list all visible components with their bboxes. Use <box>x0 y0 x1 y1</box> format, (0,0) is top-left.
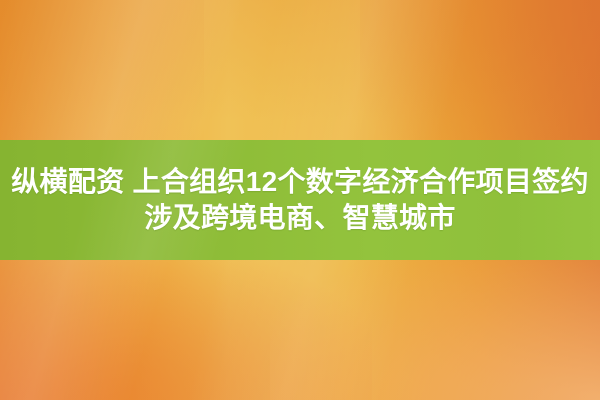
headline-line-1: 纵横配资 上合组织12个数字经济合作项目签约 <box>11 164 589 200</box>
news-banner-image: 纵横配资 上合组织12个数字经济合作项目签约 涉及跨境电商、智慧城市 <box>0 0 600 400</box>
headline-band: 纵横配资 上合组织12个数字经济合作项目签约 涉及跨境电商、智慧城市 <box>0 140 600 260</box>
headline-line-2: 涉及跨境电商、智慧城市 <box>144 200 455 236</box>
background-glow-bottom-right <box>270 240 600 400</box>
